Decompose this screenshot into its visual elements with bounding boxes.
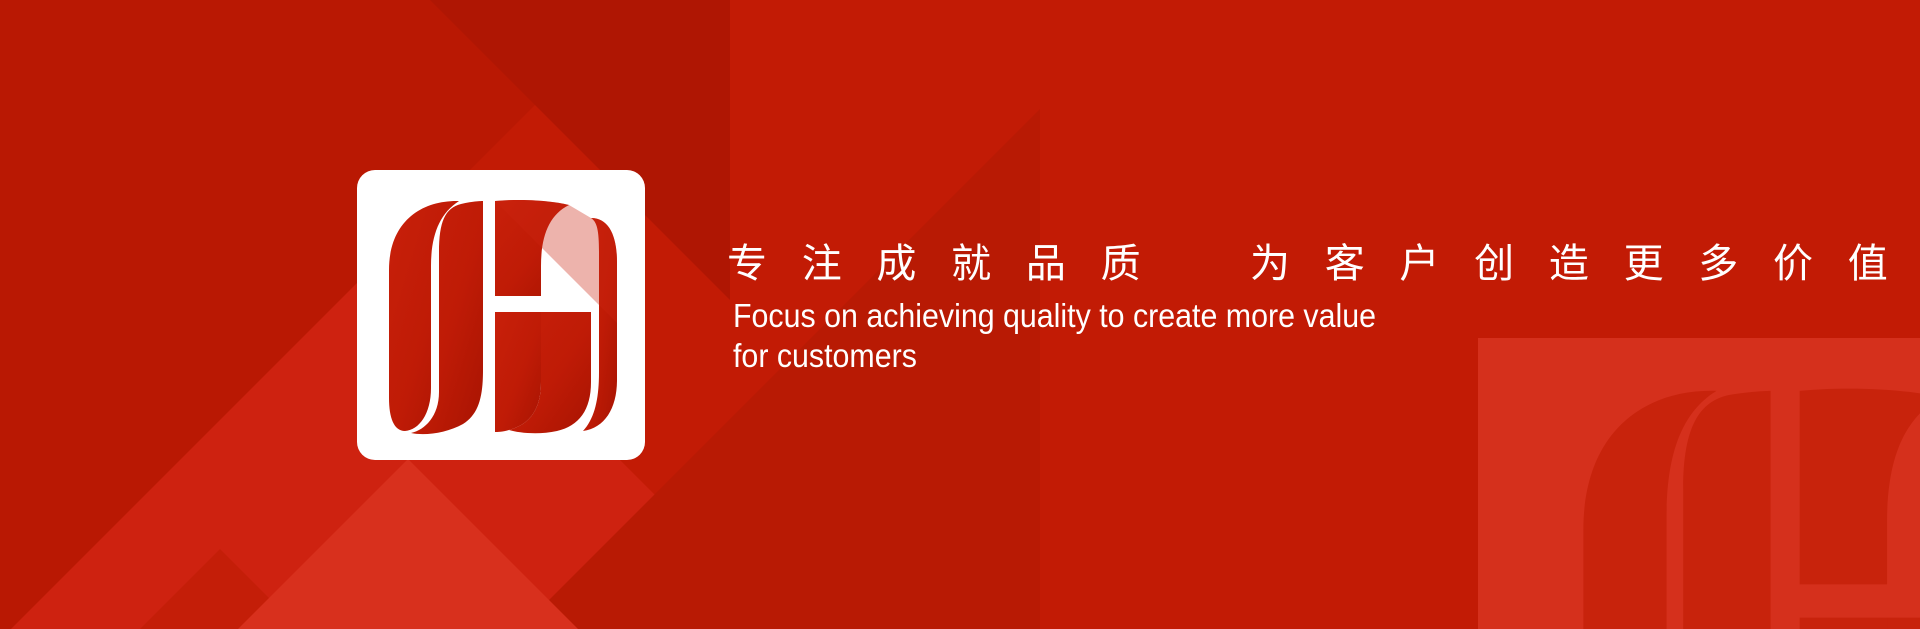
bottom-left-dark-triangle xyxy=(0,549,470,629)
slogan-subline-english: Focus on achieving quality to create mor… xyxy=(733,296,1377,376)
h-monogram-icon xyxy=(379,190,623,440)
slogan-headline-chinese: 专 注 成 就 品 质 为 客 户 创 造 更 多 价 值 xyxy=(727,240,1547,288)
bottom-left-light-triangle xyxy=(28,459,788,629)
company-logo-tile xyxy=(357,170,645,460)
promo-banner: 专 注 成 就 品 质 为 客 户 创 造 更 多 价 值 Focus on a… xyxy=(0,0,1920,629)
slogan-block: 专 注 成 就 品 质 为 客 户 创 造 更 多 价 值 Focus on a… xyxy=(727,240,1547,376)
h-monogram-watermark-icon xyxy=(1548,368,1920,629)
watermark-panel xyxy=(1478,338,1920,629)
